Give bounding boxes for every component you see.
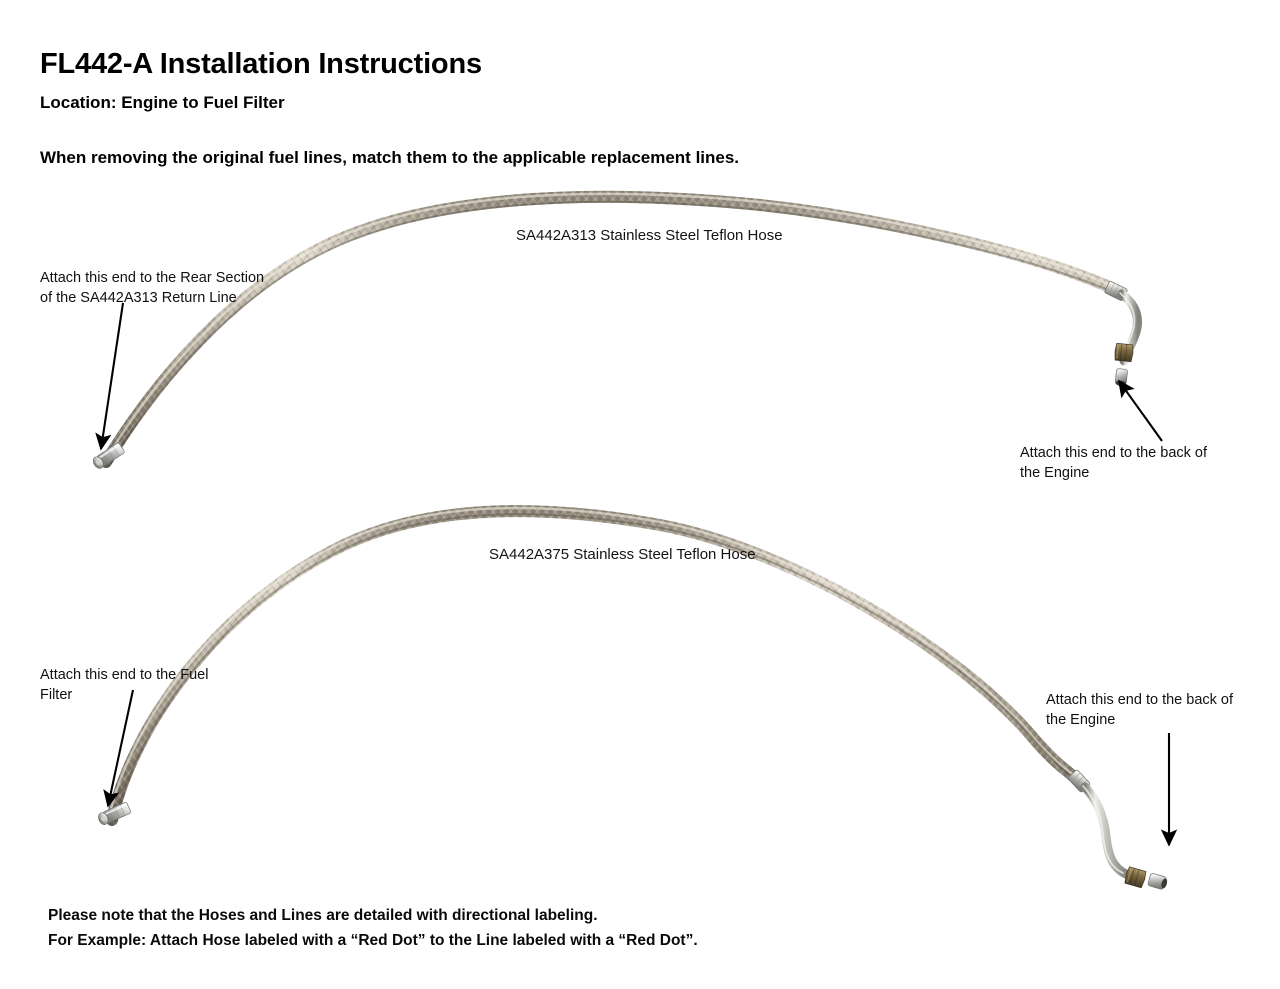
callout-bottom-left-line1: Attach this end to the Fuel	[40, 665, 208, 685]
hose-top-end-fitting-left	[91, 442, 125, 470]
hose-label-sa442a313: SA442A313 Stainless Steel Teflon Hose	[516, 227, 783, 244]
callout-arrow-top-left	[101, 303, 123, 449]
hose-top-hardline	[1122, 294, 1137, 361]
callout-top-right-line2: the Engine	[1020, 463, 1207, 483]
location-subtitle: Location: Engine to Fuel Filter	[40, 93, 285, 113]
callout-bottom-left: Attach this end to the Fuel Filter	[40, 665, 208, 705]
footer-note: Please note that the Hoses and Lines are…	[48, 903, 698, 953]
document-page: FL442-A Installation Instructions Locati…	[0, 0, 1280, 989]
hose-bottom-transition-collar	[1067, 769, 1090, 792]
hose-bottom-brass-fitting	[1124, 867, 1147, 889]
hose-bottom-assembly	[97, 508, 1169, 890]
callout-bottom-right: Attach this end to the back of the Engin…	[1046, 690, 1233, 730]
callout-top-left-line2: of the SA442A313 Return Line	[40, 288, 264, 308]
callout-bottom-right-line2: the Engine	[1046, 710, 1233, 730]
hose-label-sa442a375: SA442A375 Stainless Steel Teflon Hose	[489, 546, 756, 563]
callout-bottom-left-line2: Filter	[40, 685, 208, 705]
callout-top-right: Attach this end to the back of the Engin…	[1020, 443, 1207, 483]
hose-bottom-end-tip-right	[1147, 873, 1168, 891]
callout-top-left: Attach this end to the Rear Section of t…	[40, 268, 264, 308]
hose-bottom-end-fitting-left	[97, 802, 132, 827]
footer-note-line1: Please note that the Hoses and Lines are…	[48, 903, 698, 928]
footer-note-line2: For Example: Attach Hose labeled with a …	[48, 928, 698, 953]
callout-bottom-right-line1: Attach this end to the back of	[1046, 690, 1233, 710]
callout-arrow-bottom-left	[108, 690, 133, 806]
callout-top-right-line1: Attach this end to the back of	[1020, 443, 1207, 463]
hose-top-transition-collar	[1104, 281, 1128, 301]
page-title: FL442-A Installation Instructions	[40, 48, 482, 81]
matching-instruction: When removing the original fuel lines, m…	[40, 148, 739, 168]
callout-top-left-line1: Attach this end to the Rear Section	[40, 268, 264, 288]
hose-top-end-tip-right	[1115, 368, 1128, 386]
callout-arrow-top-right	[1119, 381, 1162, 441]
hose-top-brass-fitting	[1114, 343, 1134, 362]
hose-bottom-hardline	[1085, 787, 1126, 874]
